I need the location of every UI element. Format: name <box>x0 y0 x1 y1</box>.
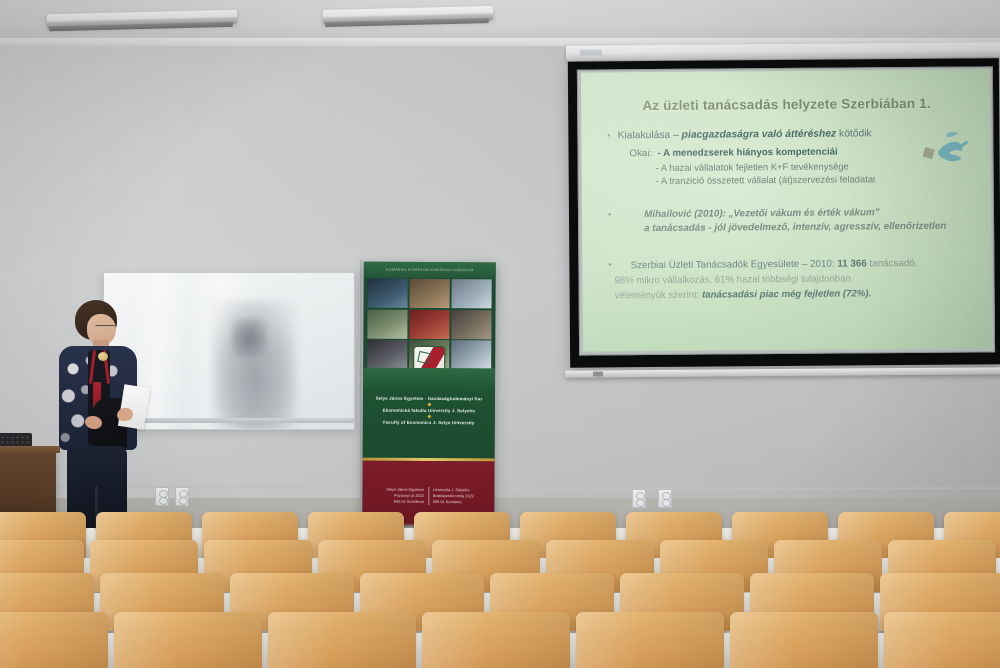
collage-photo <box>451 340 492 369</box>
slide-title: Az üzleti tanácsadás helyzete Szerbiában… <box>603 96 970 114</box>
lecture-seat[interactable] <box>422 612 570 668</box>
slide-bullet-1: • Kialakulása – piacgazdaságra való átté… <box>603 127 970 144</box>
bullet-1-emphasis: piacgazdaságra való áttéréshez <box>682 129 837 141</box>
lectern-top <box>0 446 60 453</box>
collage-photo <box>451 279 492 308</box>
banner-line-en: Faculty of Economics J. Selye University <box>370 419 488 427</box>
banner-address-left: Selye János Egyetem Pozsonyi út 3322 945… <box>368 487 429 505</box>
bullet-marker-icon: • <box>604 208 611 221</box>
bullet-1-tail: kötődik <box>836 128 872 139</box>
bullet-3-tail: tanácsadó, <box>867 257 918 268</box>
lecture-seat[interactable] <box>114 612 262 668</box>
bullet-3-number: 11 366 <box>837 258 867 269</box>
bullet-1-lead: Kialakulása – <box>618 130 682 142</box>
bullet-2-line-1: Mihailović (2010): „Vezetői vákum és ért… <box>644 206 880 222</box>
wall-outlet-left-b <box>175 487 189 506</box>
okai-label: Okai: <box>629 148 652 159</box>
presenter-glasses <box>95 325 115 331</box>
collage-photo <box>368 279 409 308</box>
bullet-3-line-3-lead: véleményük szerint: <box>615 289 703 301</box>
banner-header-text: KOMÁRNO KOMÁROM KOMÁRNO KOMÁROM <box>386 268 473 273</box>
whiteboard-shadow-head <box>232 319 266 357</box>
collage-photo <box>409 279 450 308</box>
banner-address-right: Univerzita J. Selyeho Bratislavská cesta… <box>433 487 489 505</box>
collage-photo <box>367 309 408 338</box>
wall-outlet-right-b <box>658 489 672 508</box>
address-right-line-3: 945 01 Komárno <box>433 499 489 505</box>
rollup-banner: KOMÁRNO KOMÁROM KOMÁRNO KOMÁROM Selye Já… <box>362 262 496 526</box>
ceiling-light-right <box>323 6 493 24</box>
lecture-seat[interactable] <box>268 612 416 668</box>
collage-photo <box>367 340 408 369</box>
slide-bullet-3-block: • Szerbiai Üzleti Tanácsadók Egyesülete … <box>604 255 971 303</box>
banner-header-strip: KOMÁRNO KOMÁROM KOMÁRNO KOMÁROM <box>364 262 496 279</box>
presenter-papers <box>118 384 150 430</box>
bullet-marker-icon: • <box>603 129 610 142</box>
okai-sub-2: - A tranzició összetett vállalat (át)sze… <box>656 172 971 188</box>
presenter-brooch <box>98 352 108 361</box>
collage-photo <box>409 309 450 338</box>
bullet-1-text: Kialakulása – piacgazdaságra való áttéré… <box>617 127 871 143</box>
slide-bullet-2-block: • Mihailović (2010): „Vezetői vákum és é… <box>604 205 971 236</box>
address-left-line-3: 945 01 Komárom <box>368 499 424 505</box>
lecture-seat[interactable] <box>730 612 878 668</box>
projection-screen: Az üzleti tanácsadás helyzete Szerbiában… <box>568 58 1000 367</box>
lecture-seat[interactable] <box>576 612 724 668</box>
collage-photo <box>451 310 492 339</box>
bullet-marker-icon: • <box>604 258 611 271</box>
screen-inner-frame: Az üzleti tanácsadás helyzete Szerbiában… <box>577 66 995 355</box>
bullet-3-lead: Szerbiai Üzleti Tanácsadók Egyesülete – … <box>631 258 838 271</box>
bullet-3-line-3: véleményük szerint: tanácsadási piac még… <box>615 285 972 303</box>
lecture-seat[interactable] <box>884 612 1000 668</box>
lecture-seat[interactable] <box>0 612 108 668</box>
bullet-3-line-1: Szerbiai Üzleti Tanácsadók Egyesülete – … <box>631 255 918 272</box>
lecture-hall-scene: Az üzleti tanácsadás helyzete Szerbiában… <box>0 0 1000 668</box>
screen-surface: Az üzleti tanácsadás helyzete Szerbiában… <box>581 69 992 351</box>
banner-text-block: Selye János Egyetem - Gazdaságtudományi … <box>363 390 495 461</box>
bullet-3-line-3-emphasis: tanácsadási piac még fejletlen (72%). <box>702 288 871 300</box>
presenter <box>55 300 153 538</box>
wall-outlet-right-a <box>632 489 646 508</box>
screen-pull-knob[interactable] <box>593 371 603 376</box>
presentation-slide: Az üzleti tanácsadás helyzete Szerbiában… <box>581 69 992 351</box>
housing-label <box>580 50 602 56</box>
okai-main: - A menedzserek hiányos kompetenciái <box>657 146 837 158</box>
bullet-2-line-2: a tanácsadás - jól jövedelmező, intenzív… <box>644 219 971 236</box>
runner-figure-logo <box>918 128 972 170</box>
banner-addresses: Selye János Egyetem Pozsonyi út 3322 945… <box>368 487 488 506</box>
slide-bullet-3: • Szerbiai Üzleti Tanácsadók Egyesülete … <box>604 255 971 273</box>
wall-outlet-left-a <box>155 487 169 506</box>
